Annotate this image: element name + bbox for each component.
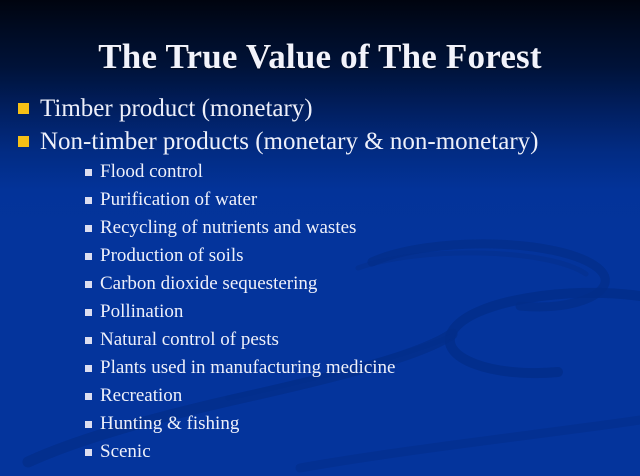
list-item-label: Carbon dioxide sequestering <box>100 270 317 298</box>
list-item-label: Timber product (monetary) <box>40 92 313 125</box>
square-bullet-white-icon <box>85 309 92 316</box>
list-item-label: Natural control of pests <box>100 326 279 354</box>
list-item[interactable]: Pollination <box>0 298 640 326</box>
list-item-label: Recreation <box>100 382 182 410</box>
square-bullet-white-icon <box>85 281 92 288</box>
square-bullet-white-icon <box>85 337 92 344</box>
list-item-label: Recycling of nutrients and wastes <box>100 214 356 242</box>
list-item[interactable]: Non-timber products (monetary & non-mone… <box>0 125 640 158</box>
list-item[interactable]: Timber product (monetary) <box>0 92 640 125</box>
list-item-label: Flood control <box>100 158 203 186</box>
square-bullet-white-icon <box>85 253 92 260</box>
list-item-label: Scenic <box>100 438 151 466</box>
list-item[interactable]: Carbon dioxide sequestering <box>0 270 640 298</box>
square-bullet-white-icon <box>85 169 92 176</box>
list-item[interactable]: Natural control of pests <box>0 326 640 354</box>
list-item-label: Plants used in manufacturing medicine <box>100 354 395 382</box>
list-item[interactable]: Hunting & fishing <box>0 410 640 438</box>
list-item[interactable]: Purification of water <box>0 186 640 214</box>
square-bullet-white-icon <box>85 393 92 400</box>
list-item-label: Non-timber products (monetary & non-mone… <box>40 125 538 158</box>
square-bullet-white-icon <box>85 365 92 372</box>
list-item-label: Purification of water <box>100 186 257 214</box>
list-item[interactable]: Plants used in manufacturing medicine <box>0 354 640 382</box>
list-item-label: Production of soils <box>100 242 244 270</box>
list-item[interactable]: Scenic <box>0 438 640 466</box>
list-item-label: Hunting & fishing <box>100 410 239 438</box>
slide-title: The True Value of The Forest <box>0 36 640 78</box>
square-bullet-white-icon <box>85 197 92 204</box>
presentation-slide: The True Value of The Forest Timber prod… <box>0 0 640 476</box>
list-item[interactable]: Recreation <box>0 382 640 410</box>
list-item-label: Pollination <box>100 298 183 326</box>
list-item[interactable]: Production of soils <box>0 242 640 270</box>
square-bullet-gold-icon <box>18 103 29 114</box>
square-bullet-white-icon <box>85 449 92 456</box>
square-bullet-gold-icon <box>18 136 29 147</box>
slide-body-list: Timber product (monetary) Non-timber pro… <box>0 92 640 466</box>
square-bullet-white-icon <box>85 225 92 232</box>
list-item[interactable]: Flood control <box>0 158 640 186</box>
list-item[interactable]: Recycling of nutrients and wastes <box>0 214 640 242</box>
square-bullet-white-icon <box>85 421 92 428</box>
